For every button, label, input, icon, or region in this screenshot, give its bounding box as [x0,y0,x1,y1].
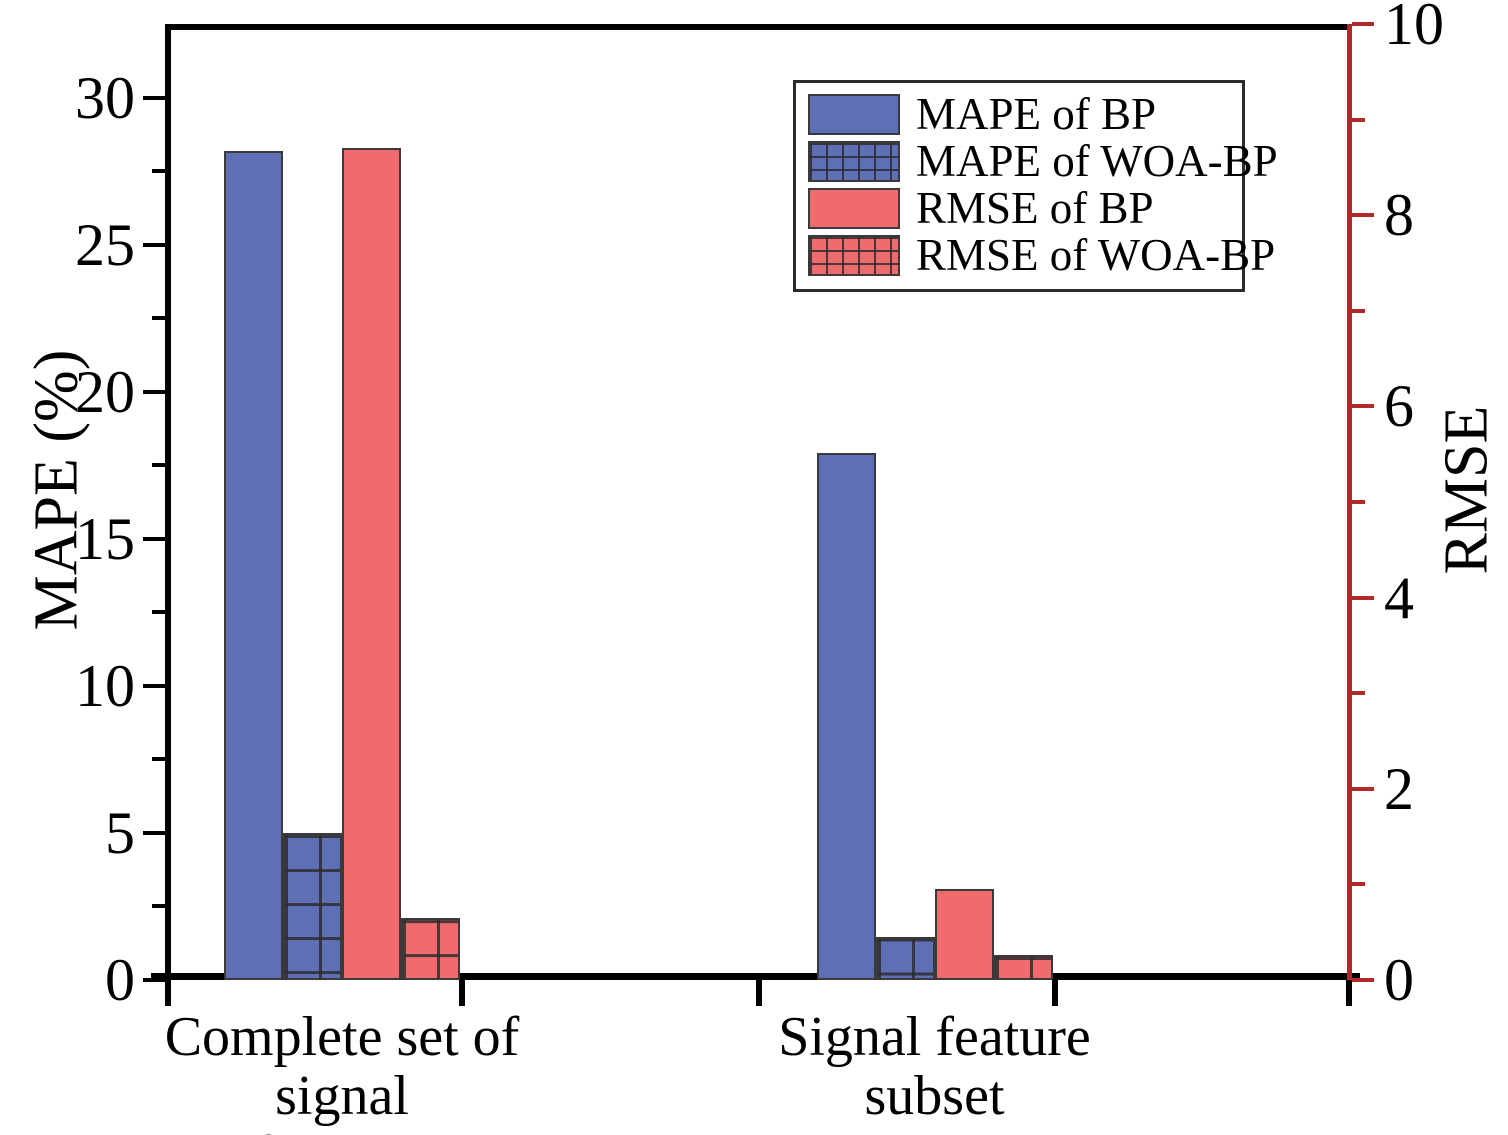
chart-legend: MAPE of BP MAPE of WOA-BP RMSE of BP RMS… [793,80,1245,292]
x-category-label: Signal feature subset [757,1008,1113,1127]
right-tick-major [1352,404,1374,408]
x-category-label-line: features [164,1127,520,1135]
bottom-tick-center [459,980,465,1006]
bar [224,151,283,981]
left-axis-title: MAPE (%) [52,0,62,980]
left-tick-major [143,96,165,100]
right-tick-label: 4 [1384,568,1414,628]
right-tick-major [1352,787,1374,791]
right-tick-label: 2 [1384,759,1414,819]
legend-swatch-mape-of-bp [808,94,900,135]
left-tick-minor [152,463,165,467]
left-tick-major [143,243,165,247]
right-axis-title: RMSE [1462,0,1472,980]
legend-label-mape-of-bp: MAPE of BP [916,92,1156,137]
left-tick-major [143,684,165,688]
left-tick-minor [152,169,165,173]
left-tick-major [143,390,165,394]
legend-label-rmse-of-woa-bp: RMSE of WOA-BP [916,233,1275,278]
left-tick-major [143,831,165,835]
left-tick-label: 10 [75,656,135,716]
left-tick-minor [152,904,165,908]
left-tick-label: 5 [105,803,135,863]
right-tick-label: 10 [1384,0,1444,54]
right-tick-label: 0 [1384,950,1414,1010]
right-tick-label: 8 [1384,185,1414,245]
plot-frame-top [165,24,1352,30]
bar [935,889,994,980]
left-tick-label: 15 [75,509,135,569]
legend-item-rmse-of-woa-bp: RMSE of WOA-BP [808,232,1232,279]
left-tick-major [143,978,165,982]
right-tick-major [1352,978,1374,982]
right-tick-major [1352,22,1374,26]
left-tick-label: 20 [75,362,135,422]
left-tick-major [143,537,165,541]
legend-label-mape-of-woa-bp: MAPE of WOA-BP [916,139,1278,184]
legend-label-rmse-of-bp: RMSE of BP [916,186,1154,231]
bar [401,918,460,980]
left-tick-label: 0 [105,950,135,1010]
bottom-tick-center [1052,980,1058,1006]
bar [283,833,342,980]
x-category-label-line: Signal feature subset [757,1008,1113,1127]
plot-frame-left [165,24,171,980]
legend-item-rmse-of-bp: RMSE of BP [808,185,1232,232]
right-tick-minor [1352,500,1365,504]
legend-swatch-rmse-of-woa-bp [808,235,900,276]
bottom-tick [165,980,171,1006]
bar [342,148,401,980]
right-tick-minor [1352,309,1365,313]
bottom-tick [756,980,762,1006]
bar [817,453,876,980]
x-category-label-line: Complete set of signal [164,1008,520,1127]
chart-figure: MAPE (%) RMSE 051015202530 0246810 Compl… [0,0,1508,1135]
right-tick-minor [1352,882,1365,886]
left-tick-label: 25 [75,215,135,275]
right-tick-minor [1352,691,1365,695]
legend-swatch-mape-of-woa-bp [808,141,900,182]
legend-item-mape-of-bp: MAPE of BP [808,91,1232,138]
bar [994,955,1053,980]
right-tick-major [1352,596,1374,600]
left-tick-minor [152,610,165,614]
legend-swatch-rmse-of-bp [808,188,900,229]
bottom-tick [1346,980,1352,1006]
legend-item-mape-of-woa-bp: MAPE of WOA-BP [808,138,1232,185]
right-tick-minor [1352,118,1365,122]
left-tick-label: 30 [75,68,135,128]
x-category-label: Complete set of signalfeatures [164,1008,520,1135]
left-tick-minor [152,316,165,320]
bar [876,937,935,980]
right-tick-major [1352,213,1374,217]
right-tick-label: 6 [1384,376,1414,436]
left-tick-minor [152,757,165,761]
